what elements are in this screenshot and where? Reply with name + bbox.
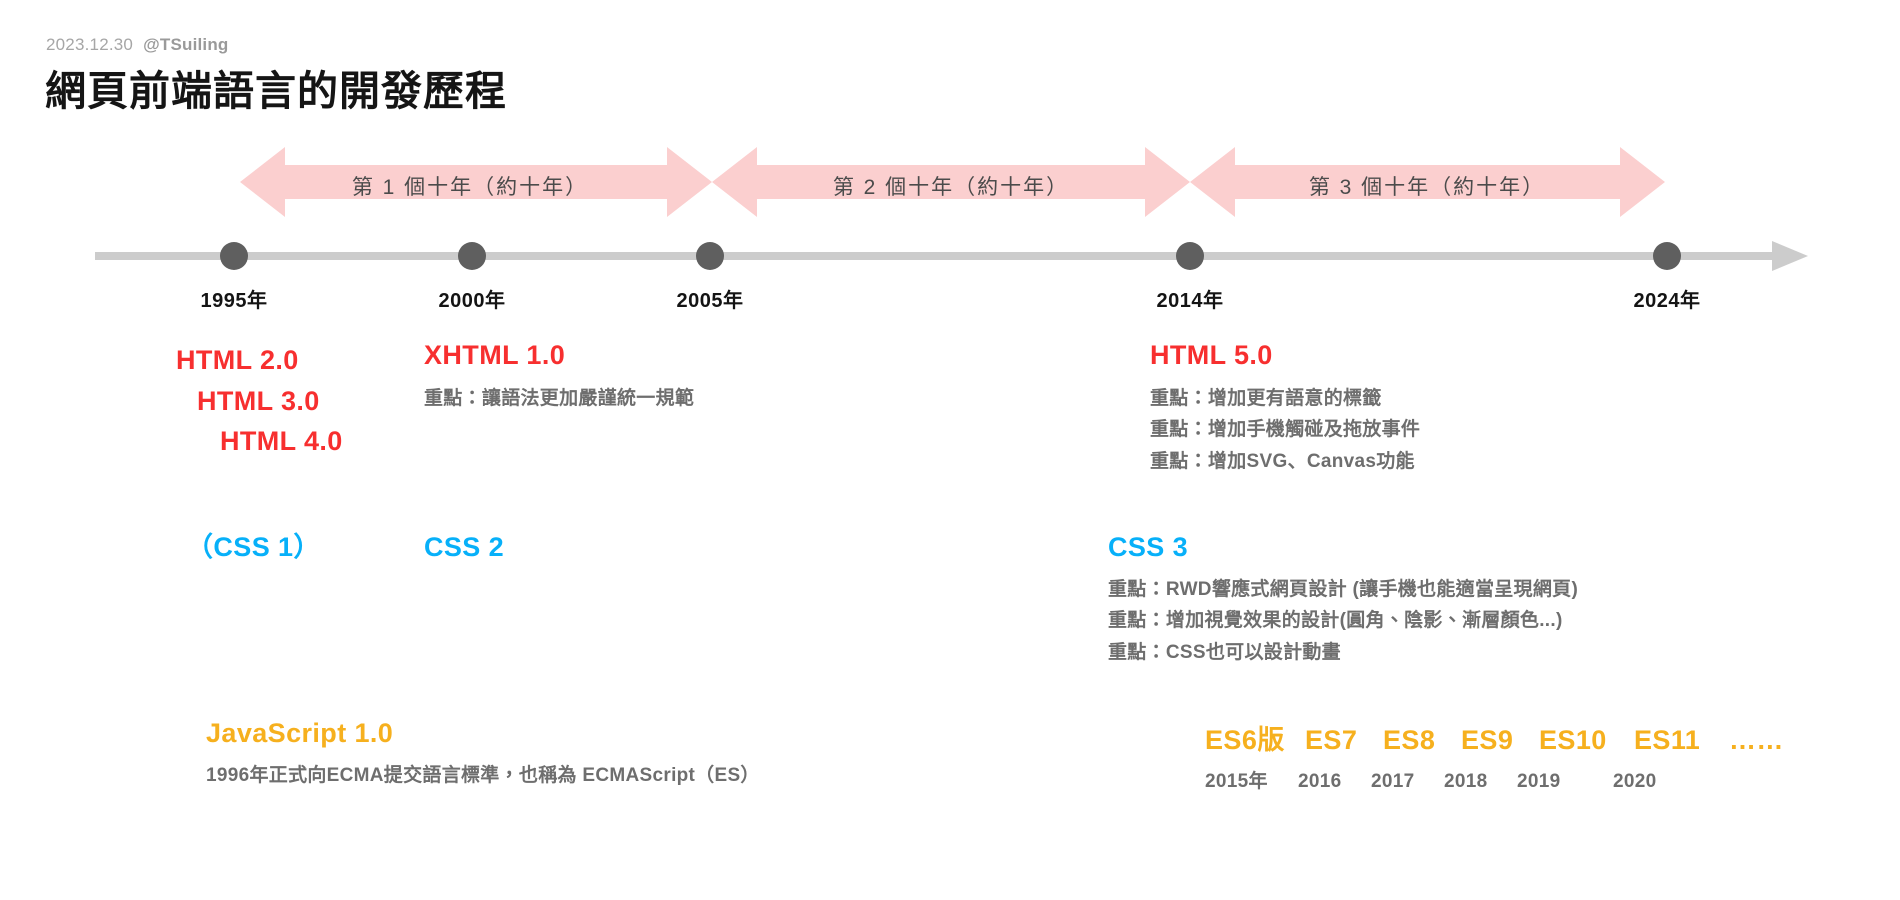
ecmascript-version-row: ES6版ES7ES8ES9ES10ES11…… [1205, 718, 1784, 757]
css1-title: （CSS 1） [186, 532, 321, 564]
year-label-2: 2000年 [439, 284, 506, 313]
year-label-3: 2005年 [677, 284, 744, 313]
ecmascript-version-2: ES7 [1305, 725, 1383, 756]
year-label-5: 2024年 [1634, 284, 1701, 313]
javascript-title: JavaScript 1.0 [206, 718, 760, 750]
timeline-arrowhead-icon [1772, 241, 1808, 271]
ecmascript-year-1: 2015年 [1205, 766, 1298, 793]
html-early-block: HTML 2.0 HTML 3.0 HTML 4.0 [176, 340, 343, 462]
css3-title: CSS 3 [1108, 532, 1578, 564]
css1-block: （CSS 1） [186, 532, 321, 564]
ecmascript-version-1: ES6版 [1205, 718, 1305, 757]
javascript-note-1: 1996年正式向ECMA提交語言標準，也稱為 ECMAScript（ES） [206, 760, 760, 792]
ecmascript-version-7: …… [1729, 725, 1784, 756]
html5-title: HTML 5.0 [1150, 340, 1420, 372]
xhtml-block: XHTML 1.0 重點：讓語法更加嚴謹統一規範 [424, 340, 694, 414]
html-version-2: HTML 3.0 [176, 381, 343, 422]
html-version-3: HTML 4.0 [176, 421, 343, 462]
year-label-4: 2014年 [1157, 284, 1224, 313]
ecmascript-block: ES6版ES7ES8ES9ES10ES11…… 2015年20162017201… [1205, 718, 1784, 793]
timeline-dot-2005年[interactable] [696, 242, 724, 270]
xhtml-note-1: 重點：讓語法更加嚴謹統一規範 [424, 383, 694, 415]
ecmascript-year-5: 2019 [1517, 771, 1613, 793]
css3-note-3: 重點：CSS也可以設計動畫 [1108, 637, 1578, 669]
css2-title: CSS 2 [424, 532, 504, 564]
html-version-1: HTML 2.0 [176, 340, 343, 381]
html5-block: HTML 5.0 重點：增加更有語意的標籤 重點：增加手機觸碰及拖放事件 重點：… [1150, 340, 1420, 477]
ecmascript-year-row: 2015年20162017201820192020 [1205, 766, 1784, 793]
css2-block: CSS 2 [424, 532, 504, 564]
year-label-1: 1995年 [201, 284, 268, 313]
html-early-list: HTML 2.0 HTML 3.0 HTML 4.0 [176, 340, 343, 462]
infographic-canvas: 2023.12.30@TSuiling 網頁前端語言的開發歷程 第 1 個十年（… [0, 0, 1900, 900]
ecmascript-year-4: 2018 [1444, 771, 1517, 793]
css3-note-2: 重點：增加視覺效果的設計(圓角、陰影、漸層顏色...) [1108, 605, 1578, 637]
timeline-dot-2024年[interactable] [1653, 242, 1681, 270]
html5-note-3: 重點：增加SVG、Canvas功能 [1150, 446, 1420, 478]
ecmascript-year-3: 2017 [1371, 771, 1444, 793]
html5-note-2: 重點：增加手機觸碰及拖放事件 [1150, 414, 1420, 446]
javascript-block: JavaScript 1.0 1996年正式向ECMA提交語言標準，也稱為 EC… [206, 718, 760, 791]
ecmascript-version-4: ES9 [1461, 725, 1539, 756]
css3-block: CSS 3 重點：RWD響應式網頁設計 (讓手機也能適當呈現網頁) 重點：增加視… [1108, 532, 1578, 668]
ecmascript-version-5: ES10 [1539, 725, 1634, 756]
timeline-dot-2014年[interactable] [1176, 242, 1204, 270]
ecmascript-year-2: 2016 [1298, 771, 1371, 793]
ecmascript-version-3: ES8 [1383, 725, 1461, 756]
css3-note-1: 重點：RWD響應式網頁設計 (讓手機也能適當呈現網頁) [1108, 574, 1578, 606]
ecmascript-version-6: ES11 [1634, 725, 1729, 756]
timeline-dot-1995年[interactable] [220, 242, 248, 270]
html5-note-1: 重點：增加更有語意的標籤 [1150, 383, 1420, 415]
xhtml-title: XHTML 1.0 [424, 340, 694, 372]
timeline-dot-2000年[interactable] [458, 242, 486, 270]
ecmascript-year-6: 2020 [1613, 771, 1709, 793]
